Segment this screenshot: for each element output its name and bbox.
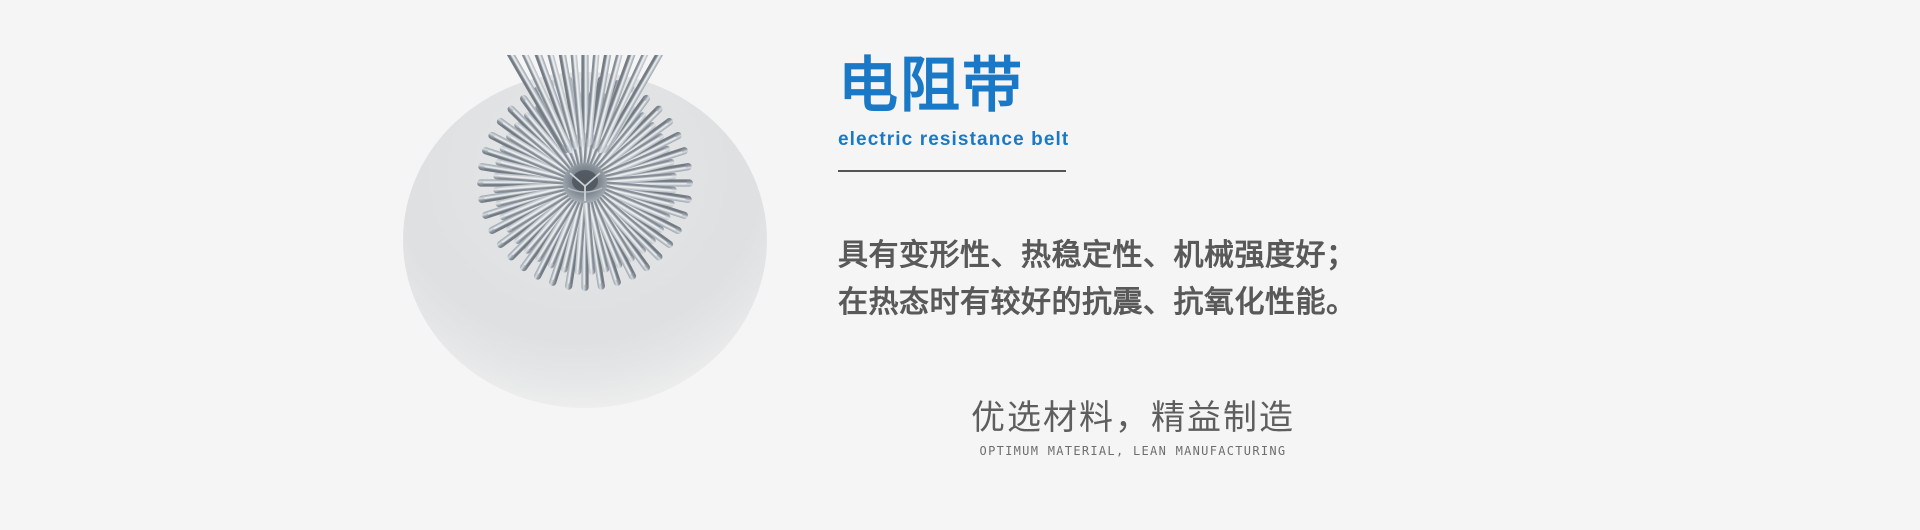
product-description: 具有变形性、热稳定性、机械强度好； 在热态时有较好的抗震、抗氧化性能。 bbox=[838, 232, 1357, 326]
product-image bbox=[370, 55, 800, 430]
description-line-2: 在热态时有较好的抗震、抗氧化性能。 bbox=[838, 279, 1357, 326]
resistance-belt-illustration bbox=[370, 55, 800, 430]
page-subtitle: electric resistance belt bbox=[838, 129, 1069, 151]
heading-block: 电阻带 electric resistance belt bbox=[838, 52, 1069, 172]
slogan-block: 优选材料，精益制造 OPTIMUM MATERIAL, LEAN MANUFAC… bbox=[958, 396, 1308, 459]
product-banner: 电阻带 electric resistance belt 具有变形性、热稳定性、… bbox=[0, 0, 1920, 530]
central-hub bbox=[563, 163, 607, 203]
banner-content: 电阻带 electric resistance belt 具有变形性、热稳定性、… bbox=[838, 0, 1838, 530]
title-divider bbox=[838, 170, 1066, 172]
description-line-1: 具有变形性、热稳定性、机械强度好； bbox=[838, 232, 1357, 279]
slogan-english: OPTIMUM MATERIAL, LEAN MANUFACTURING bbox=[958, 443, 1308, 459]
page-title: 电阻带 bbox=[838, 52, 1069, 120]
slogan-chinese: 优选材料，精益制造 bbox=[958, 396, 1308, 440]
